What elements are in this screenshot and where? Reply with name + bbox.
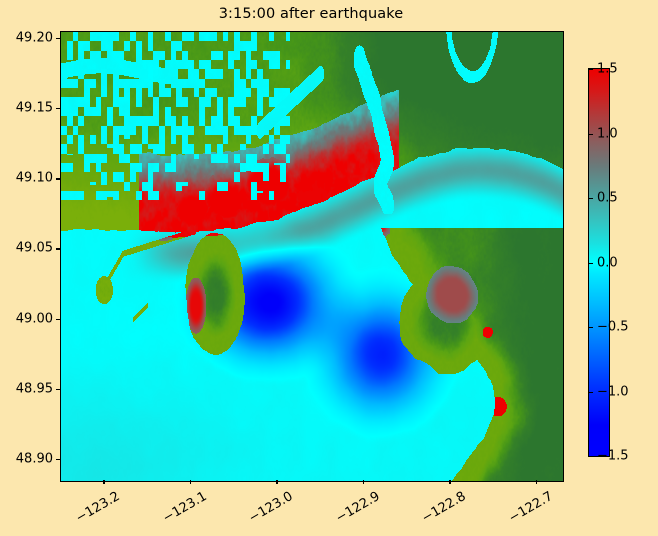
colorbar-tick-label: 1.5 [597, 62, 618, 77]
y-tick-mark [56, 38, 60, 39]
colorbar-tick-mark [589, 456, 593, 457]
x-tick-mark [536, 480, 537, 484]
x-tick-mark [449, 480, 450, 484]
x-tick-label: −122.7 [506, 489, 555, 526]
map-axes[interactable] [60, 31, 564, 482]
y-tick-mark [56, 178, 60, 179]
y-tick-label: 49.00 [16, 311, 53, 326]
colorbar-tick-label: 1.0 [597, 126, 618, 141]
y-tick-label: 49.10 [16, 171, 53, 186]
y-tick-label: 49.20 [16, 31, 53, 46]
colorbar-tick-label: 0.0 [597, 255, 618, 270]
y-tick-label: 48.90 [16, 451, 53, 466]
colorbar-tick-mark [589, 134, 593, 135]
tsunami-heatmap [61, 32, 563, 481]
y-tick-mark [56, 389, 60, 390]
x-tick-mark [190, 480, 191, 484]
x-tick-label: −122.9 [333, 489, 382, 526]
colorbar-tick-label: 0.5 [597, 191, 618, 206]
colorbar-tick-mark [589, 69, 593, 70]
x-tick-label: −123.1 [160, 489, 209, 526]
x-tick-label: −123.2 [74, 489, 123, 526]
y-tick-label: 49.05 [16, 241, 53, 256]
y-tick-label: 49.15 [16, 101, 53, 116]
y-tick-mark [56, 459, 60, 460]
x-tick-mark [276, 480, 277, 484]
colorbar[interactable]: 1.51.00.50.0−0.5−1.0−1.5 [588, 68, 610, 457]
colorbar-tick-mark [589, 327, 593, 328]
colorbar-tick-mark [589, 392, 593, 393]
x-tick-mark [363, 480, 364, 484]
colorbar-tick-mark [589, 263, 593, 264]
y-tick-mark [56, 248, 60, 249]
colorbar-tick-label: −1.0 [597, 384, 629, 399]
y-tick-label: 48.95 [16, 381, 53, 396]
colorbar-tick-label: −0.5 [597, 320, 629, 335]
x-tick-label: −123.0 [247, 489, 296, 526]
figure-canvas: 3:15:00 after earthquake 49.2049.1549.10… [0, 0, 658, 536]
colorbar-tick-label: −1.5 [597, 449, 629, 464]
y-tick-mark [56, 108, 60, 109]
x-tick-mark [103, 480, 104, 484]
y-tick-mark [56, 319, 60, 320]
colorbar-tick-mark [589, 198, 593, 199]
x-tick-label: −122.8 [420, 489, 469, 526]
page-title: 3:15:00 after earthquake [60, 6, 562, 22]
